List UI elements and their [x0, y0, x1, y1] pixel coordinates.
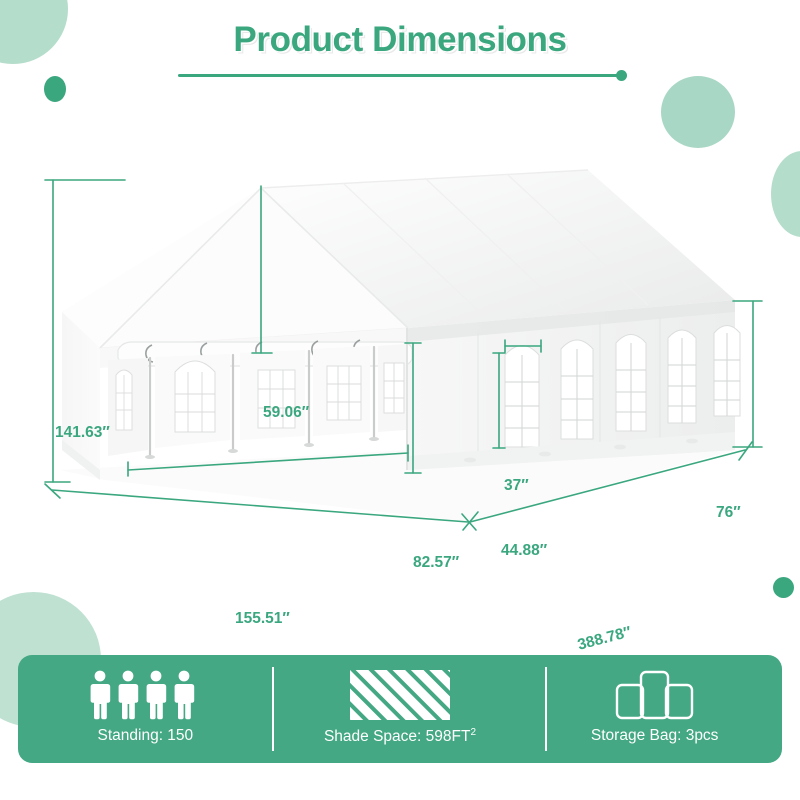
feature-storage-bag: Storage Bag: 3pcs [527, 655, 782, 763]
feature-shade-space-exponent: 2 [470, 727, 476, 738]
feature-standing-label: Standing: 150 [98, 727, 194, 745]
dimension-label-window-height: 44.88″ [501, 543, 547, 559]
feature-standing: Standing: 150 [18, 655, 273, 763]
dimension-label-overall-height: 141.63″ [55, 425, 110, 441]
decorative-circle-top-right [661, 76, 735, 148]
title-underline-dot [616, 70, 627, 81]
infographic-canvas: Product Dimensions [0, 0, 800, 800]
tent-drawing [0, 150, 800, 570]
feature-shade-space: Shade Space: 598FT2 [273, 655, 528, 763]
feature-shade-space-label: Shade Space: 598FT2 [324, 727, 476, 746]
people-group-icon [89, 669, 201, 721]
page-title: Product Dimensions [233, 22, 566, 57]
storage-bags-icon [615, 669, 695, 721]
product-illustration: 141.63″ 59.06″ 82.57″ 37″ 44.88″ 76″ 155… [0, 150, 800, 570]
dimension-label-window-width: 37″ [504, 478, 529, 494]
dimension-label-rear-wall-height: 76″ [716, 505, 741, 521]
decorative-dot-left [44, 76, 66, 102]
feature-shade-space-text: Shade Space: 598FT [324, 728, 471, 745]
decorative-dot-right [773, 577, 794, 598]
dimension-label-sidewall-height-front: 82.57″ [413, 555, 459, 571]
feature-panel: Standing: 150 Shade Space: [18, 655, 782, 763]
dimension-label-roof-peak-rise: 59.06″ [263, 405, 309, 421]
title-underline [178, 74, 622, 77]
page-title-container: Product Dimensions [0, 22, 800, 57]
hatched-area-icon [350, 669, 450, 721]
feature-storage-bag-label: Storage Bag: 3pcs [591, 727, 719, 745]
dimension-label-overall-length: 388.78″ [576, 625, 633, 654]
dimension-label-interior-width: 155.51″ [235, 611, 290, 627]
